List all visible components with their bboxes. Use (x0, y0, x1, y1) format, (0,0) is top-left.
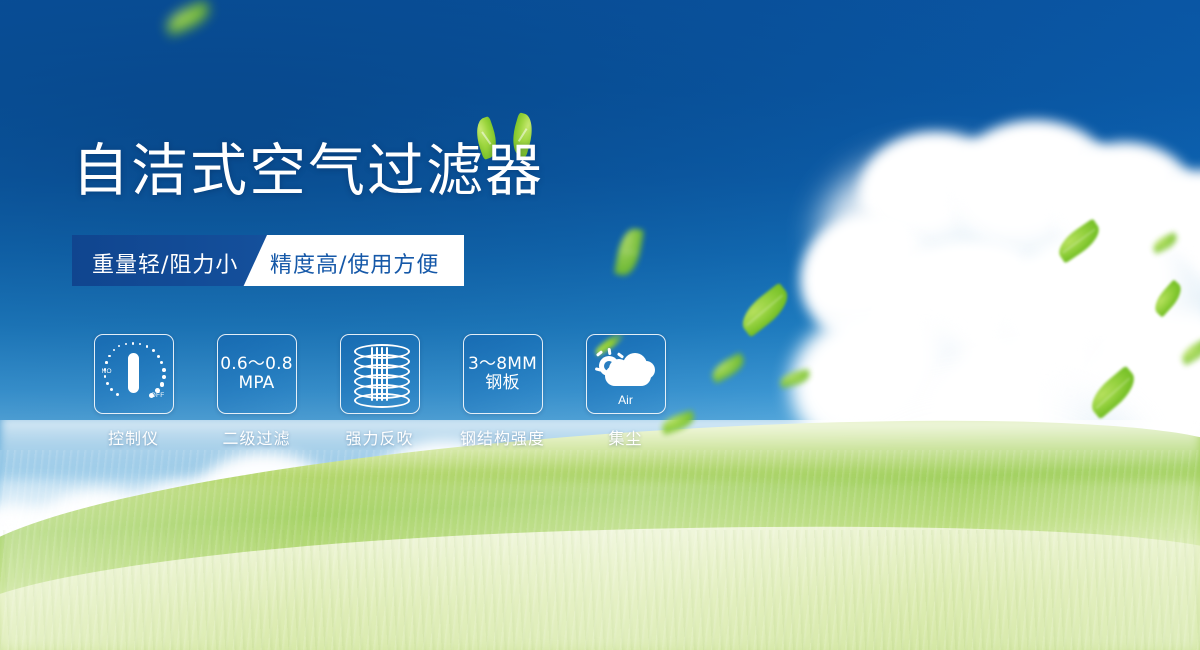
tagline-primary: 重量轻/阻力小 (92, 247, 238, 279)
feature-label: 钢结构强度 (460, 425, 545, 449)
page-title: 自洁式空气过滤器 (72, 143, 544, 200)
feature-label: 集尘 (608, 425, 642, 449)
grass-sheen (0, 480, 1200, 650)
tagline-panel: 重量轻/阻力小 精度高/使用方便 (72, 235, 464, 286)
feature-label: 二级过滤 (222, 425, 290, 449)
dial-gauge-icon: NO OFF (101, 341, 167, 407)
cloud-air-icon: Air (595, 345, 657, 403)
feature-item-steel[interactable]: 3～8MM 钢板 钢结构强度 (441, 334, 564, 449)
feature-item-dust[interactable]: Air 集尘 (564, 334, 687, 449)
air-label: Air (595, 393, 657, 407)
tagline-secondary: 精度高/使用方便 (270, 247, 439, 279)
feature-icon-box: Air (586, 334, 666, 414)
feature-item-blowback[interactable]: 强力反吹 (318, 334, 441, 449)
dial-needle-icon (128, 353, 139, 393)
pressure-unit-text: MPA (220, 374, 292, 393)
steel-plate-text: 钢板 (468, 374, 537, 393)
dial-on-label: NO (102, 368, 112, 375)
feature-item-pressure[interactable]: 0.6～0.8 MPA 二级过滤 (195, 334, 318, 449)
feature-list: NO OFF 控制仪 0.6～0.8 MPA 二级过滤 (72, 334, 687, 449)
pressure-value-icon: 0.6～0.8 MPA (220, 355, 292, 394)
feature-icon-box (340, 334, 420, 414)
feature-item-controller[interactable]: NO OFF 控制仪 (72, 334, 195, 449)
feature-label: 控制仪 (108, 425, 159, 449)
feature-icon-box: 0.6～0.8 MPA (217, 334, 297, 414)
feature-icon-box: 3～8MM 钢板 (463, 334, 543, 414)
steel-plate-icon: 3～8MM 钢板 (468, 355, 537, 394)
product-banner: 自洁式空气过滤器 重量轻/阻力小 精度高/使用方便 (0, 0, 1200, 650)
feature-icon-box: NO OFF (94, 334, 174, 414)
filter-stack-icon (354, 344, 406, 404)
pressure-range-text: 0.6～0.8 (220, 354, 292, 374)
feature-label: 强力反吹 (345, 425, 413, 449)
steel-thickness-text: 3～8MM (468, 354, 537, 374)
grass-field (0, 420, 1200, 650)
dial-off-label: OFF (151, 392, 165, 399)
